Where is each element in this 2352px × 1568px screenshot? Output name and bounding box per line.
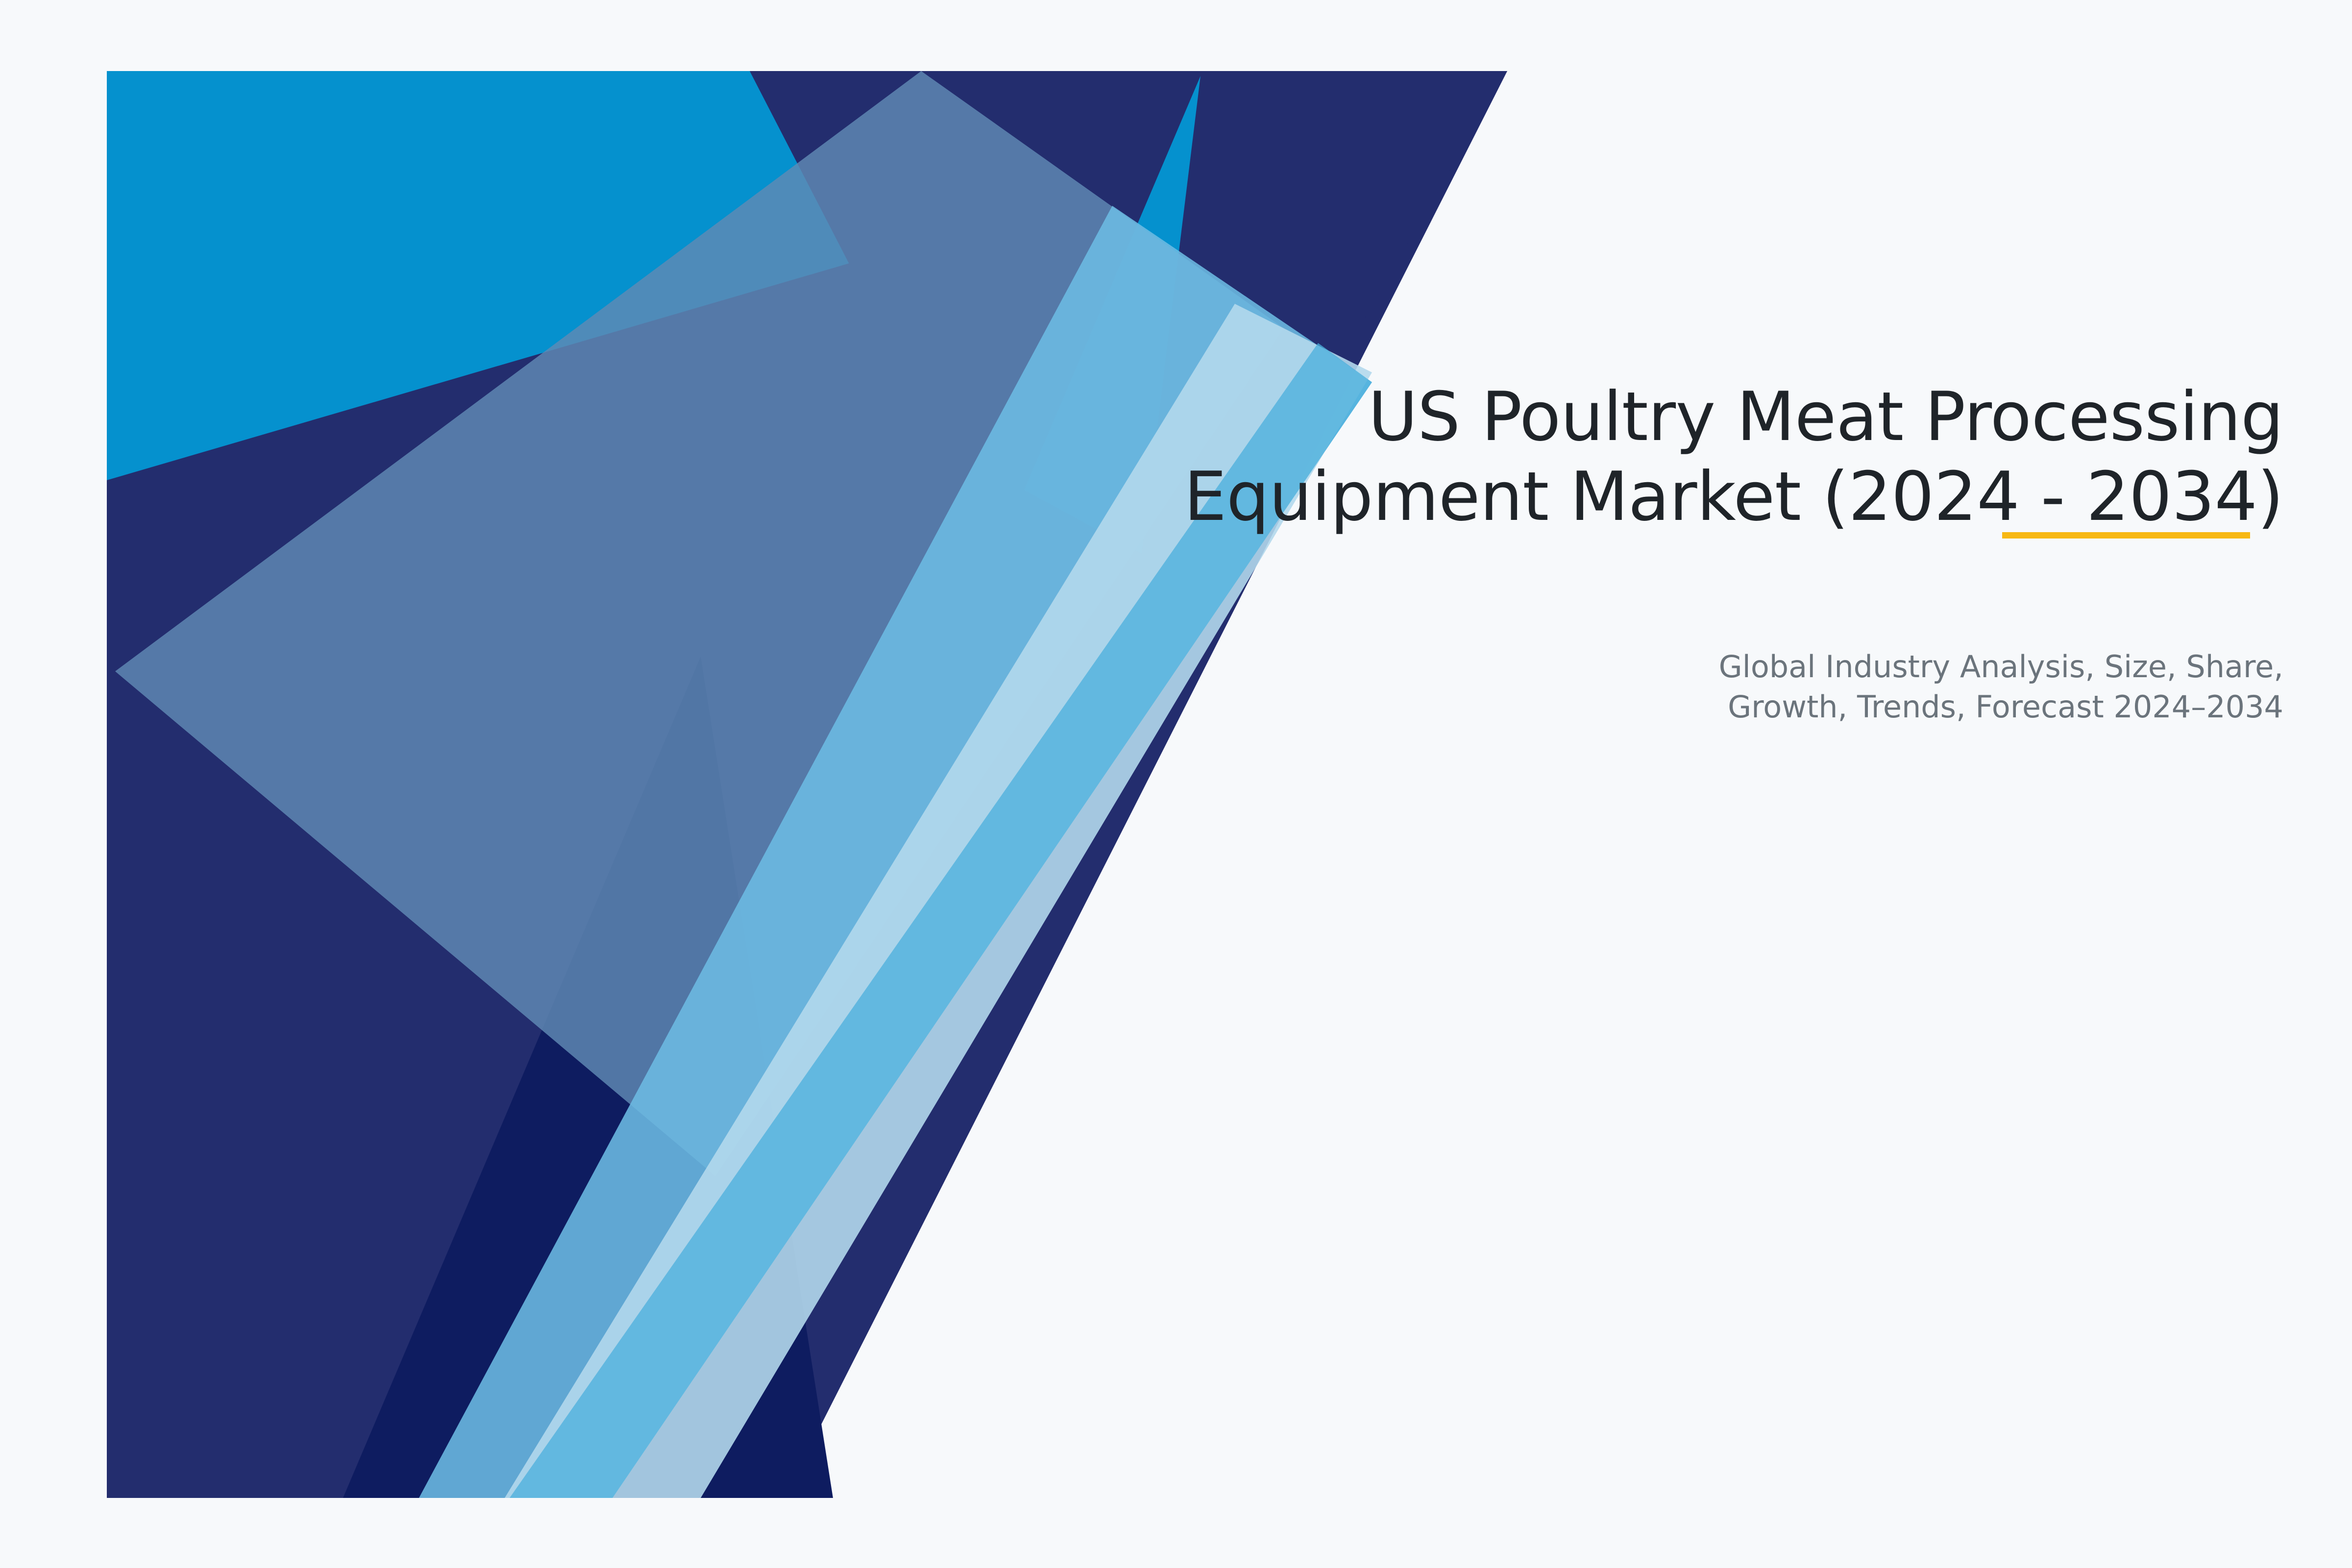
slide-canvas: US Poultry Meat Processing Equipment Mar… [0, 0, 2352, 1568]
page-subtitle: Global Industry Analysis, Size, Share, G… [1421, 647, 2283, 727]
page-title: US Poultry Meat Processing Equipment Mar… [1000, 377, 2283, 537]
title-block: US Poultry Meat Processing Equipment Mar… [1000, 377, 2283, 537]
abstract-geometric-cover-graphic [0, 0, 2352, 1568]
